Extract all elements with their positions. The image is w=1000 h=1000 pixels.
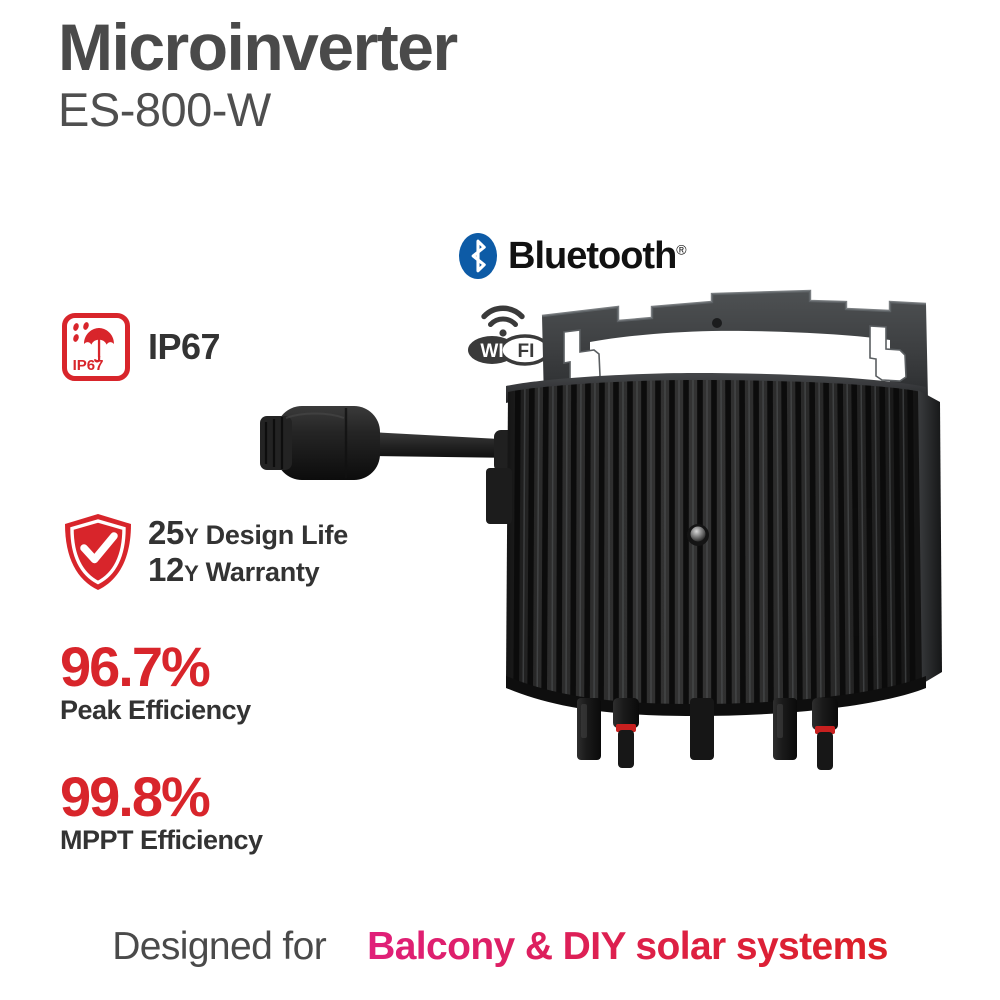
title-block: Microinverter ES-800-W [58, 14, 457, 140]
design-life-unit: Y [184, 524, 198, 549]
ip67-umbrella-icon: IP67 [62, 313, 130, 381]
page-title: Microinverter [58, 14, 457, 81]
tagline: Designed for Balcony & DIY solar systems [0, 925, 1000, 969]
bluetooth-icon [459, 233, 497, 279]
bluetooth-label: Bluetooth® [508, 235, 686, 278]
tagline-lead: Designed for [112, 925, 326, 968]
ac-connector-plug [260, 406, 380, 480]
bracket-screw-hole [712, 318, 722, 328]
warranty-unit: Y [184, 561, 198, 586]
stat-label-peak: Peak Efficiency [60, 695, 251, 726]
warranty-number: 12 [148, 551, 184, 588]
stat-value-mppt: 99.8% [60, 768, 263, 825]
model-number: ES-800-W [58, 81, 457, 140]
stat-value-peak: 96.7% [60, 638, 251, 695]
mc4-connector-4 [812, 698, 838, 770]
microinverter-product-photo [250, 280, 950, 800]
stat-mppt-efficiency: 99.8% MPPT Efficiency [60, 768, 263, 856]
ac-cable [370, 430, 524, 472]
center-post [690, 698, 714, 760]
side-mounting-tab [486, 468, 512, 524]
tagline-highlight: Balcony & DIY solar systems [367, 925, 888, 968]
registered-mark: ® [676, 241, 685, 257]
shield-check-icon [62, 512, 134, 592]
bluetooth-badge: Bluetooth® [459, 233, 686, 279]
feature-ip67: IP67 IP67 [62, 313, 220, 381]
pressure-vent [687, 524, 709, 546]
stat-label-mppt: MPPT Efficiency [60, 825, 263, 856]
body-side-cap [918, 390, 942, 684]
mc4-connector-2 [613, 698, 639, 768]
ip67-icon-text: IP67 [73, 357, 104, 374]
mc4-connector-1 [577, 698, 601, 760]
design-life-number: 25 [148, 514, 184, 551]
inverter-body [486, 370, 942, 720]
stat-peak-efficiency: 96.7% Peak Efficiency [60, 638, 251, 726]
mc4-connector-3 [773, 698, 797, 760]
product-feature-poster: Microinverter ES-800-W Bluetooth® WI FI [0, 0, 1000, 1000]
feature-label-ip67: IP67 [148, 326, 220, 368]
